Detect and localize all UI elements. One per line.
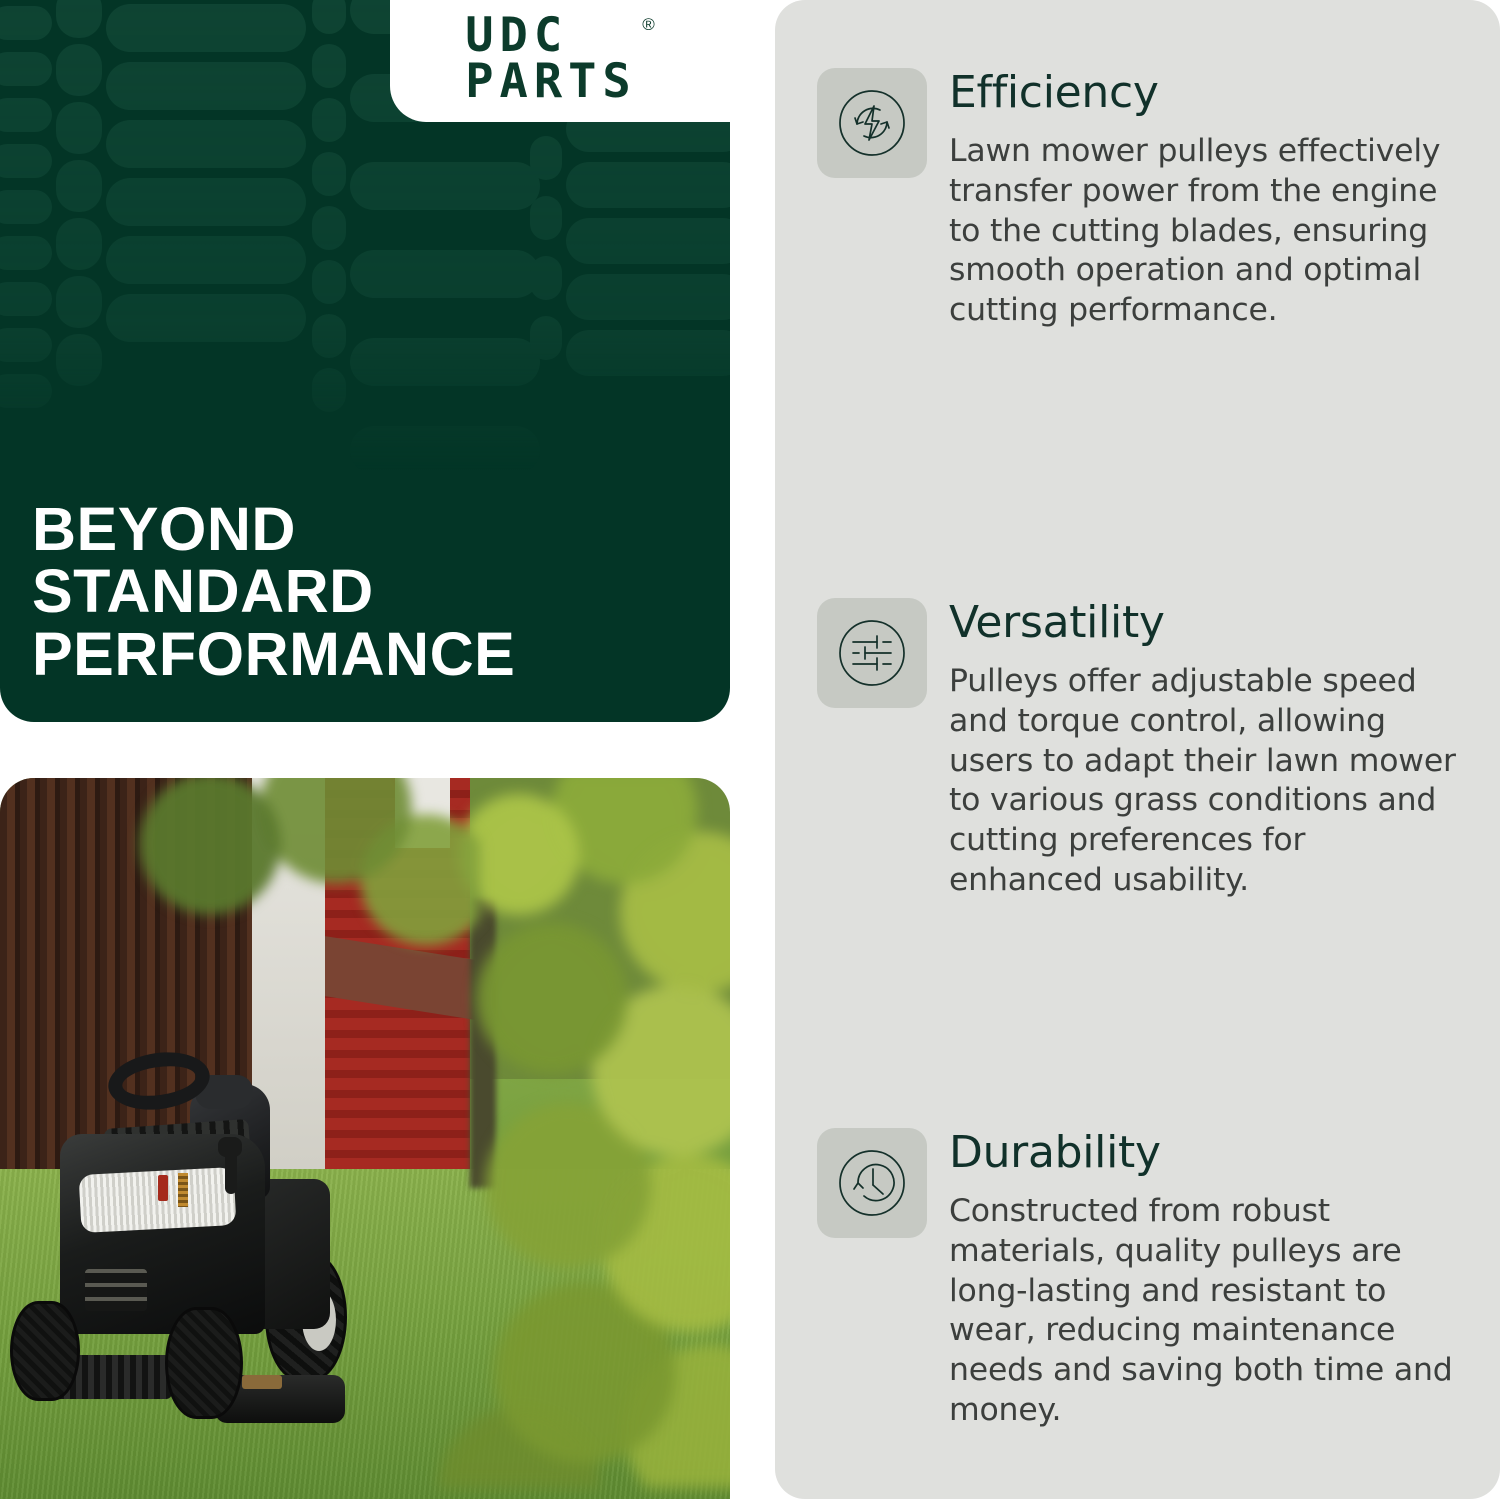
photo-riding-lawn-mower bbox=[10, 1029, 430, 1429]
registered-trademark-icon: ® bbox=[642, 15, 655, 35]
left-column: UDC PARTS ® BEYOND STANDARD PERFORMANCE bbox=[0, 0, 735, 1499]
clock-history-icon-tile bbox=[817, 1128, 927, 1238]
headline-line-2: STANDARD bbox=[32, 560, 515, 623]
feature-title-durability: Durability bbox=[949, 1130, 1467, 1176]
mower-front-left-wheel bbox=[10, 1301, 80, 1401]
features-panel: Efficiency Lawn mower pulleys effectivel… bbox=[775, 0, 1500, 1499]
sliders-settings-icon bbox=[833, 614, 911, 692]
photo-scene bbox=[0, 778, 730, 1499]
energy-cycle-icon-tile bbox=[817, 68, 927, 178]
feature-body-efficiency: Lawn mower pulleys effectively transfer … bbox=[949, 132, 1467, 330]
headline-line-3: PERFORMANCE bbox=[32, 623, 515, 686]
sliders-settings-icon-tile bbox=[817, 598, 927, 708]
photo-overhanging-leaves bbox=[120, 778, 480, 988]
logo-text-udc: UDC bbox=[465, 13, 636, 59]
feature-durability-text: Durability Constructed from robust mater… bbox=[949, 1128, 1467, 1430]
mower-red-detail bbox=[158, 1175, 168, 1201]
headline-line-1: BEYOND bbox=[32, 498, 515, 561]
feature-efficiency: Efficiency Lawn mower pulleys effectivel… bbox=[817, 68, 1467, 331]
feature-title-efficiency: Efficiency bbox=[949, 70, 1467, 116]
feature-body-versatility: Pulleys offer adjustable speed and torqu… bbox=[949, 662, 1467, 900]
brand-logo[interactable]: UDC PARTS ® bbox=[390, 0, 730, 122]
feature-versatility-text: Versatility Pulleys offer adjustable spe… bbox=[949, 598, 1467, 900]
mower-lever-knob bbox=[218, 1137, 242, 1157]
energy-cycle-icon bbox=[833, 84, 911, 162]
logo-text-parts: PARTS bbox=[465, 59, 636, 105]
feature-body-durability: Constructed from robust materials, quali… bbox=[949, 1192, 1467, 1430]
feature-title-versatility: Versatility bbox=[949, 600, 1467, 646]
feature-durability: Durability Constructed from robust mater… bbox=[817, 1128, 1467, 1430]
feature-efficiency-text: Efficiency Lawn mower pulleys effectivel… bbox=[949, 68, 1467, 331]
mower-spring bbox=[178, 1173, 188, 1207]
infographic-page: UDC PARTS ® BEYOND STANDARD PERFORMANCE bbox=[0, 0, 1500, 1499]
mower-deck-label bbox=[242, 1375, 282, 1389]
clock-history-icon bbox=[833, 1144, 911, 1222]
mower-front-right-wheel bbox=[165, 1307, 243, 1419]
product-photo bbox=[0, 778, 730, 1499]
hero-panel: UDC PARTS ® BEYOND STANDARD PERFORMANCE bbox=[0, 0, 730, 722]
mower-hood-vents bbox=[85, 1269, 147, 1311]
hero-headline: BEYOND STANDARD PERFORMANCE bbox=[32, 498, 515, 686]
feature-versatility: Versatility Pulleys offer adjustable spe… bbox=[817, 598, 1467, 900]
